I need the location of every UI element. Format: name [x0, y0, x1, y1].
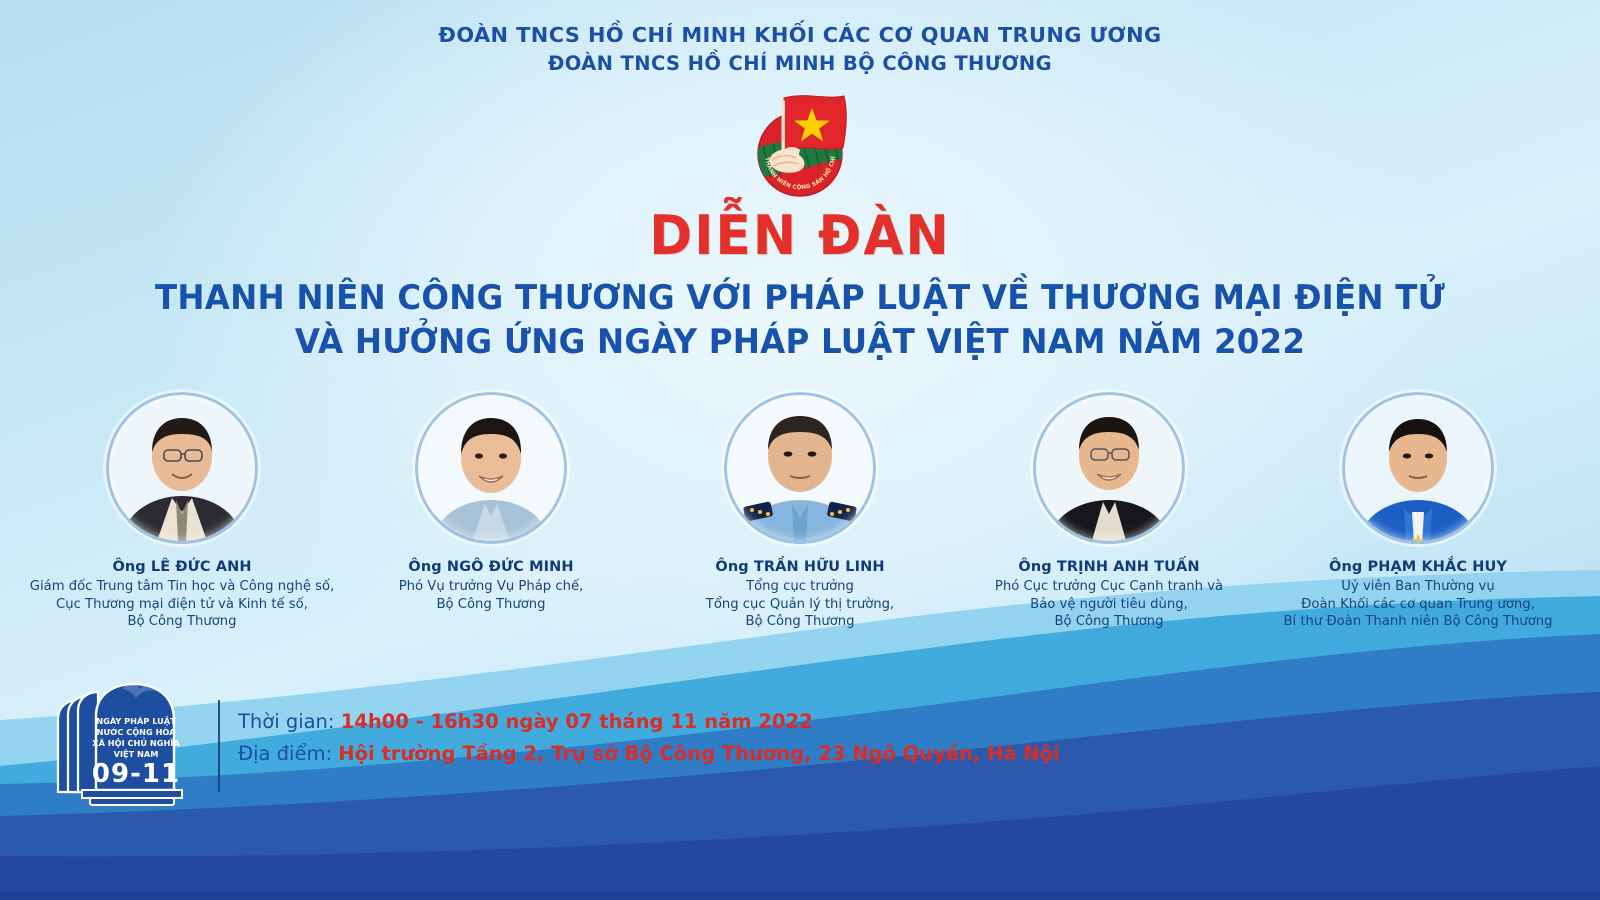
speaker-role-line: Bộ Công Thương: [706, 613, 894, 631]
avatar: [415, 392, 567, 544]
speaker-card: Ông PHẠM KHẮC HUY Uỷ viên Ban Thường vụ …: [1268, 392, 1568, 631]
event-time-value: 14h00 - 16h30 ngày 07 tháng 11 năm 2022: [341, 710, 813, 733]
speaker-name: Ông TRẦN HỮU LINH: [715, 559, 884, 575]
speaker-role-line: Uỷ viên Ban Thường vụ: [1283, 578, 1552, 596]
youth-union-emblem-icon: ĐOÀN THANH NIÊN CỘNG SẢN HỒ CHÍ MINH: [712, 88, 888, 200]
main-title-line-1: THANH NIÊN CÔNG THƯƠNG VỚI PHÁP LUẬT VỀ …: [24, 276, 1576, 320]
svg-text:09-11: 09-11: [92, 759, 180, 789]
speaker-list: Ông LÊ ĐỨC ANH Giám đốc Trung tâm Tin họ…: [32, 392, 1568, 631]
org-line-1: ĐOÀN TNCS HỒ CHÍ MINH KHỐI CÁC CƠ QUAN T…: [0, 22, 1600, 48]
svg-text:VIỆT NAM: VIỆT NAM: [114, 749, 159, 759]
speaker-name: Ông LÊ ĐỨC ANH: [112, 559, 251, 575]
speaker-role-line: Đoàn Khối các cơ quan Trung ương,: [1283, 596, 1552, 614]
poster-footer: NGÀY PHÁP LUẬT NƯỚC CỘNG HÒA XÃ HỘI CHỦ …: [0, 688, 1600, 808]
speaker-role: Phó Vụ trưởng Vụ Pháp chế, Bộ Công Thươn…: [399, 578, 584, 613]
vietnam-law-day-logo-icon: NGÀY PHÁP LUẬT NƯỚC CỘNG HÒA XÃ HỘI CHỦ …: [52, 680, 204, 808]
speaker-name: Ông TRỊNH ANH TUẤN: [1018, 559, 1199, 575]
speaker-role: Giám đốc Trung tâm Tin học và Công nghệ …: [30, 578, 335, 631]
speaker-role-line: Giám đốc Trung tâm Tin học và Công nghệ …: [30, 578, 335, 596]
avatar: [724, 392, 876, 544]
avatar: [106, 392, 258, 544]
speaker-name: Ông PHẠM KHẮC HUY: [1329, 559, 1507, 575]
footer-divider: [218, 700, 220, 792]
speaker-card: Ông NGÔ ĐỨC MINH Phó Vụ trưởng Vụ Pháp c…: [341, 392, 641, 613]
speaker-role-line: Cục Thương mại điện tử và Kinh tế số,: [30, 596, 335, 614]
speaker-role-line: Bộ Công Thương: [399, 596, 584, 614]
event-time-row: Thời gian: 14h00 - 16h30 ngày 07 tháng 1…: [238, 706, 1060, 738]
speaker-role-line: Phó Cục trưởng Cục Cạnh tranh và: [995, 578, 1223, 596]
speaker-role: Tổng cục trưởng Tổng cục Quản lý thị trư…: [706, 578, 894, 631]
speaker-role-line: Phó Vụ trưởng Vụ Pháp chế,: [399, 578, 584, 596]
speaker-role: Phó Cục trưởng Cục Cạnh tranh và Bảo vệ …: [995, 578, 1223, 631]
svg-text:NƯỚC CỘNG HÒA: NƯỚC CỘNG HÒA: [96, 726, 176, 737]
organisation-header: ĐOÀN TNCS HỒ CHÍ MINH KHỐI CÁC CƠ QUAN T…: [0, 22, 1600, 77]
speaker-role-line: Bí thư Đoàn Thanh niên Bộ Công Thương: [1283, 613, 1552, 631]
event-time-label: Thời gian:: [238, 710, 335, 733]
speaker-role-line: Bộ Công Thương: [30, 613, 335, 631]
speaker-name: Ông NGÔ ĐỨC MINH: [408, 559, 573, 575]
event-details: Thời gian: 14h00 - 16h30 ngày 07 tháng 1…: [238, 706, 1060, 770]
speaker-card: Ông TRỊNH ANH TUẤN Phó Cục trưởng Cục Cạ…: [959, 392, 1259, 631]
avatar: [1342, 392, 1494, 544]
svg-text:XÃ HỘI CHỦ NGHĨA: XÃ HỘI CHỦ NGHĨA: [92, 736, 180, 748]
poster-main-title: THANH NIÊN CÔNG THƯƠNG VỚI PHÁP LUẬT VỀ …: [24, 276, 1576, 364]
speaker-role-line: Bộ Công Thương: [995, 613, 1223, 631]
speaker-role: Uỷ viên Ban Thường vụ Đoàn Khối các cơ q…: [1283, 578, 1552, 631]
main-title-line-2: VÀ HƯỞNG ỨNG NGÀY PHÁP LUẬT VIỆT NAM NĂM…: [24, 320, 1576, 364]
svg-text:NGÀY PHÁP LUẬT: NGÀY PHÁP LUẬT: [96, 715, 176, 726]
speaker-role-line: Bảo vệ người tiêu dùng,: [995, 596, 1223, 614]
speaker-card: Ông LÊ ĐỨC ANH Giám đốc Trung tâm Tin họ…: [32, 392, 332, 631]
avatar: [1033, 392, 1185, 544]
poster-stage: ĐOÀN TNCS HỒ CHÍ MINH KHỐI CÁC CƠ QUAN T…: [0, 0, 1600, 900]
event-place-value: Hội trường Tầng 2, Trụ sở Bộ Công Thương…: [338, 742, 1060, 765]
speaker-role-line: Tổng cục trưởng: [706, 578, 894, 596]
event-place-label: Địa điểm:: [238, 742, 332, 765]
poster-kicker-title: DIỄN ĐÀN: [32, 207, 1568, 265]
event-place-row: Địa điểm: Hội trường Tầng 2, Trụ sở Bộ C…: [238, 738, 1060, 770]
speaker-card: Ông TRẦN HỮU LINH Tổng cục trưởng Tổng c…: [650, 392, 950, 631]
speaker-role-line: Tổng cục Quản lý thị trường,: [706, 596, 894, 614]
org-line-2: ĐOÀN TNCS HỒ CHÍ MINH BỘ CÔNG THƯƠNG: [0, 51, 1600, 77]
